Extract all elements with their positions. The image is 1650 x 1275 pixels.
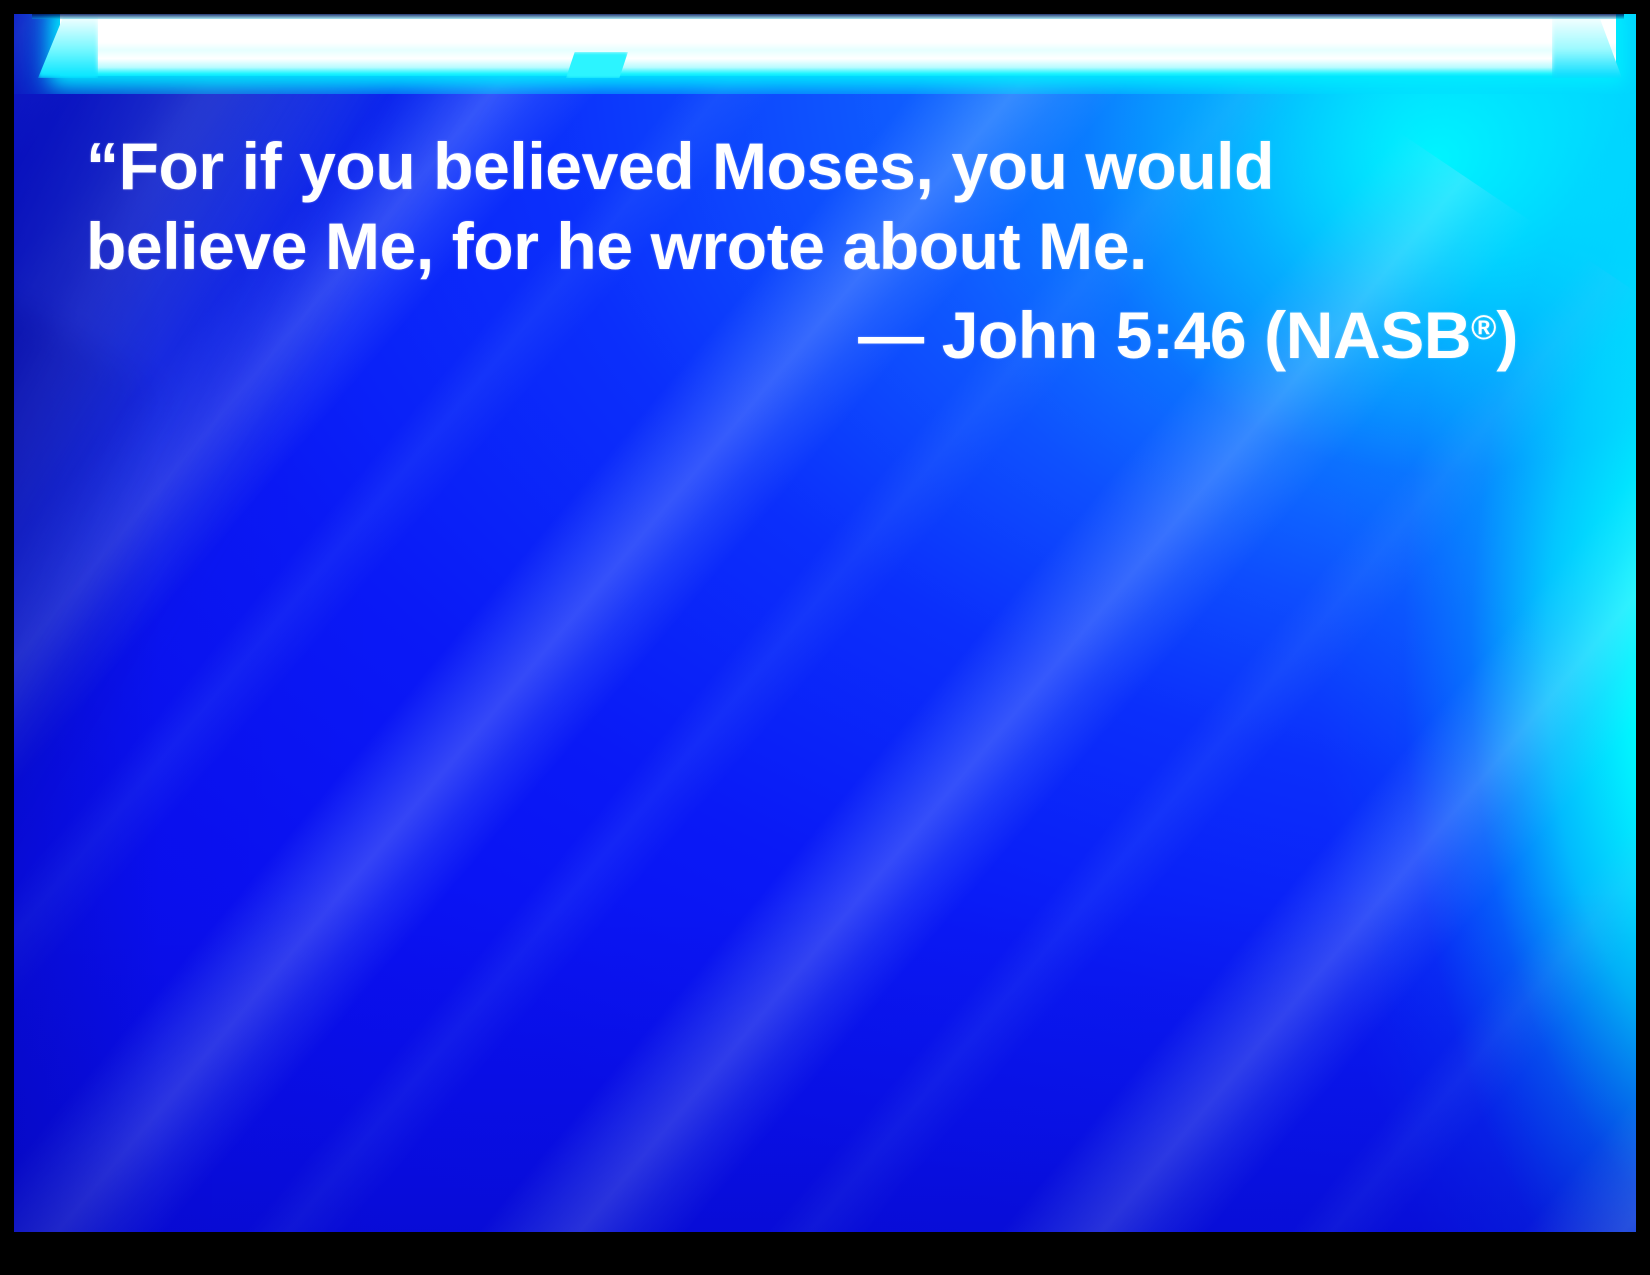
verse-line-2: believe Me, for he wrote about Me. bbox=[86, 206, 1586, 286]
top-band-fill bbox=[60, 14, 1616, 76]
top-band-seam bbox=[32, 14, 1624, 19]
slide-artwork-canvas: “For if you believed Moses, you would be… bbox=[14, 14, 1636, 1232]
top-band-left-bevel bbox=[38, 14, 98, 78]
top-band-notch bbox=[566, 52, 628, 78]
bible-verse-slide: “For if you believed Moses, you would be… bbox=[0, 0, 1650, 1275]
verse-reference: — John 5:46 (NASB®) bbox=[86, 288, 1586, 375]
top-highlight-band bbox=[14, 14, 1636, 94]
verse-reference-prefix: — John 5:46 (NASB bbox=[858, 298, 1471, 372]
verse-reference-suffix: ) bbox=[1496, 298, 1518, 372]
verse-text-block: “For if you believed Moses, you would be… bbox=[86, 126, 1586, 375]
registered-trademark-icon: ® bbox=[1471, 309, 1496, 347]
verse-line-1: “For if you believed Moses, you would bbox=[86, 126, 1586, 206]
